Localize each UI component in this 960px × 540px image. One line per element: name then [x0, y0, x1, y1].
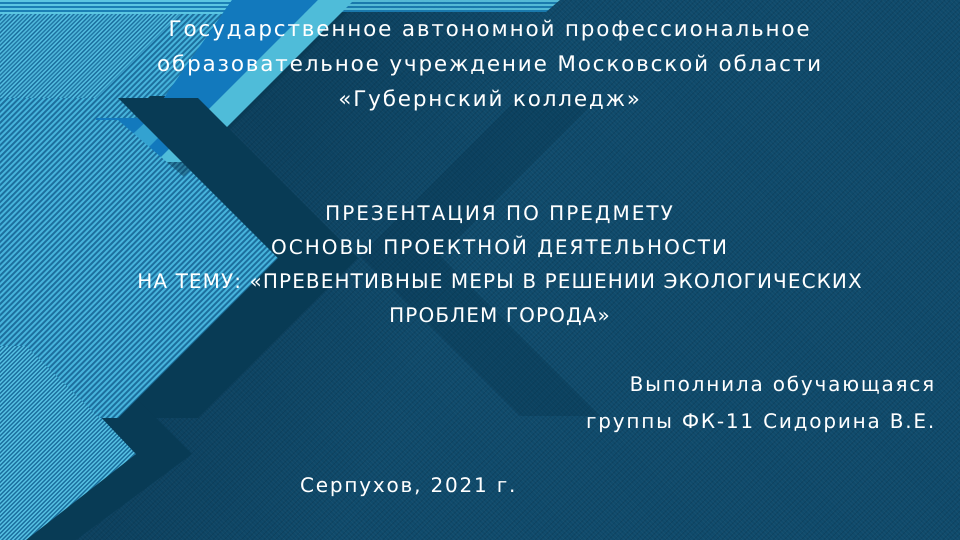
author-credit: Выполнила обучающаяся группы ФК-11 Сидор… [300, 366, 936, 440]
subject-line-1: ПРЕЗЕНТАЦИЯ ПО ПРЕДМЕТУ [60, 196, 940, 230]
place-and-year: Серпухов, 2021 г. [300, 471, 660, 499]
presentation-subject: ПРЕЗЕНТАЦИЯ ПО ПРЕДМЕТУ ОСНОВЫ ПРОЕКТНОЙ… [60, 196, 940, 332]
organization-name: Государственное автономной профессиональ… [120, 12, 860, 117]
topic-line-1: НА ТЕМУ: «ПРЕВЕНТИВНЫЕ МЕРЫ В РЕШЕНИИ ЭК… [60, 264, 940, 298]
topic-line-2: ПРОБЛЕМ ГОРОДА» [60, 298, 940, 332]
organization-line-3: «Губернский колледж» [120, 82, 860, 117]
organization-line-2: образовательное учреждение Московской об… [120, 47, 860, 82]
author-line-1: Выполнила обучающаяся [300, 366, 936, 403]
organization-line-1: Государственное автономной профессиональ… [120, 12, 860, 47]
author-line-2: группы ФК-11 Сидорина В.Е. [300, 403, 936, 440]
presentation-slide: Государственное автономной профессиональ… [0, 0, 960, 540]
subject-line-2: ОСНОВЫ ПРОЕКТНОЙ ДЕЯТЕЛЬНОСТИ [60, 230, 940, 264]
